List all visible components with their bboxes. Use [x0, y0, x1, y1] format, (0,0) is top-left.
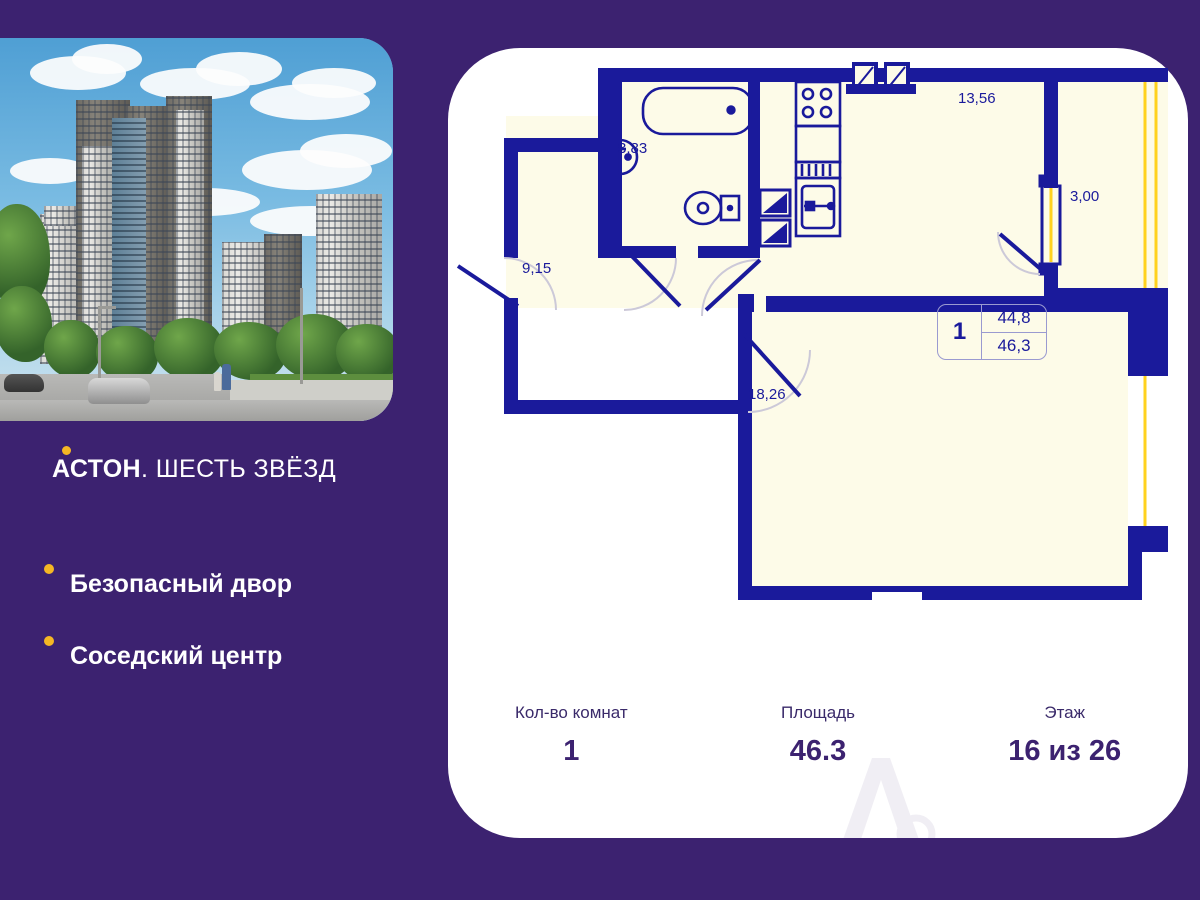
fill-balcony — [1058, 82, 1168, 288]
room-area-bathroom: 3,83 — [618, 140, 647, 157]
wall-hall-top — [504, 138, 614, 152]
brand-title: АСТОН. ШЕСТЬ ЗВЁЗД — [52, 455, 422, 484]
feature-label: Безопасный двор — [70, 570, 292, 599]
street-lamp-arm — [98, 306, 116, 309]
road — [0, 400, 393, 421]
feature-label: Соседский центр — [70, 642, 282, 671]
building-render-photo — [0, 38, 393, 421]
watermark-shape — [840, 758, 922, 848]
wall-balcony-top — [1058, 68, 1168, 82]
bullet-dot-icon — [44, 636, 54, 646]
stat-value: 46.3 — [695, 735, 942, 768]
wall-living-notch — [872, 586, 922, 592]
wall-bath-bottom-a — [612, 246, 676, 258]
list-item: Соседский центр — [44, 620, 424, 692]
apartment-summary-badge: 1 44,8 46,3 — [937, 304, 1047, 360]
brand-line: АСТОН. ШЕСТЬ ЗВЁЗД — [52, 455, 422, 484]
floorplan-svg — [448, 48, 1188, 648]
kitchen-drain-icon — [828, 203, 834, 209]
bathtub-drain-icon — [728, 107, 735, 114]
kitchen-tap-icon — [806, 202, 814, 210]
wall-living-right-thick-b — [1142, 526, 1168, 552]
cloud — [300, 134, 392, 168]
wall-bath-bottom-b — [698, 246, 760, 258]
room-area-living: 18,26 — [748, 386, 786, 403]
wall-top — [598, 68, 1058, 82]
badge-areas: 44,8 46,3 — [982, 305, 1046, 359]
stat-area: Площадь 46.3 — [695, 703, 942, 768]
brand-name: АСТОН — [52, 455, 141, 483]
person-child — [214, 372, 221, 391]
tree — [44, 320, 100, 378]
street-lamp — [98, 308, 101, 382]
wall-living-left — [738, 400, 752, 600]
walls — [504, 68, 1168, 600]
floorplan-card: 3,83 9,15 13,56 3,00 18,26 1 44,8 46,3 К… — [448, 48, 1188, 838]
wall-hall-left-b — [504, 298, 518, 412]
wall-balcony-bottom — [1044, 288, 1168, 312]
room-area-hallway: 9,15 — [522, 260, 551, 277]
stat-label: Этаж — [941, 703, 1188, 723]
wall-center-stub — [738, 294, 754, 314]
cloud — [292, 68, 376, 98]
wall-living-right-a — [1128, 312, 1142, 376]
wall-living-right-thick — [1142, 312, 1168, 376]
stat-rooms: Кол-во комнат 1 — [448, 703, 695, 768]
stat-value: 1 — [448, 735, 695, 768]
badge-area-total: 46,3 — [982, 333, 1046, 360]
bullet-dot-icon — [44, 564, 54, 574]
cloud — [196, 52, 282, 86]
badge-room-count: 1 — [938, 305, 982, 359]
wall-living-bottom-a — [738, 586, 872, 600]
badge-area-living: 44,8 — [982, 305, 1046, 333]
tower-glass-band — [112, 118, 146, 358]
wall-living-bottom-b — [922, 586, 1142, 600]
watermark-circle — [900, 818, 932, 850]
wall-left-upper — [598, 68, 612, 258]
feature-list: Безопасный двор Соседский центр — [44, 548, 424, 692]
wall-hall-left-a — [504, 138, 518, 258]
stat-value: 16 из 26 — [941, 735, 1188, 768]
toilet-button-icon — [728, 206, 732, 210]
stat-label: Площадь — [695, 703, 942, 723]
wall-divider-a — [766, 296, 842, 312]
list-item: Безопасный двор — [44, 548, 424, 620]
door-hinge — [1040, 176, 1050, 186]
brand-accent-dot — [62, 446, 71, 455]
person-adult — [222, 364, 231, 390]
car — [88, 378, 150, 404]
room-area-kitchen: 13,56 — [958, 90, 996, 107]
car — [4, 374, 44, 392]
brand-subtitle: . ШЕСТЬ ЗВЁЗД — [141, 455, 336, 483]
page-root: АСТОН. ШЕСТЬ ЗВЁЗД Безопасный двор Сосед… — [0, 0, 1200, 900]
cloud — [72, 44, 142, 74]
stat-label: Кол-во комнат — [448, 703, 695, 723]
floorplan-drawing: 3,83 9,15 13,56 3,00 18,26 1 44,8 46,3 — [448, 48, 1188, 648]
wall-living-right-b — [1128, 526, 1142, 600]
left-promo-panel: АСТОН. ШЕСТЬ ЗВЁЗД Безопасный двор Сосед… — [0, 0, 440, 900]
wall-right-kitchen — [1044, 68, 1058, 174]
window-sill — [846, 84, 916, 94]
stat-floor: Этаж 16 из 26 — [941, 703, 1188, 768]
room-area-balcony: 3,00 — [1070, 188, 1099, 205]
apartment-stats: Кол-во комнат 1 Площадь 46.3 Этаж 16 из … — [448, 703, 1188, 768]
street-lamp — [300, 288, 303, 384]
wall-hall-bottom — [504, 400, 754, 414]
